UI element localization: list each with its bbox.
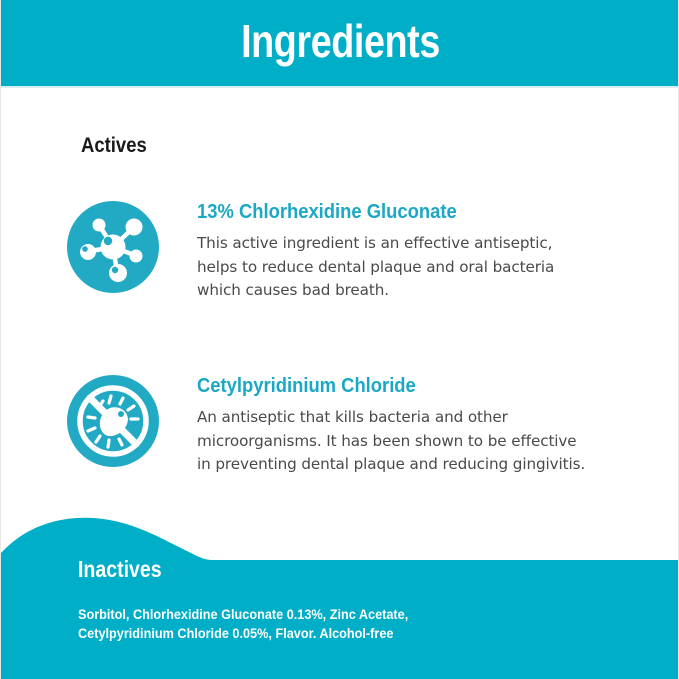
inactives-ingredient-list: Sorbitol, Chlorhexidine Gluconate 0.13%,… (78, 605, 604, 643)
inactives-footer: Inactives Sorbitol, Chlorhexidine Glucon… (1, 505, 679, 679)
page-title: Ingredients (62, 14, 619, 68)
ingredient-text: 13% Chlorhexidine Gluconate This active … (197, 201, 647, 303)
ingredients-infographic: Ingredients Actives (0, 0, 679, 679)
ingredient-title: 13% Chlorhexidine Gluconate (197, 201, 611, 223)
ingredient-description: This active ingredient is an effective a… (197, 232, 647, 303)
ingredient-title: Cetylpyridinium Chloride (197, 375, 611, 397)
section-label-actives: Actives (81, 134, 147, 158)
molecule-icon (67, 201, 159, 293)
section-label-inactives: Inactives (78, 556, 162, 583)
no-bacteria-icon (67, 375, 159, 467)
header-banner: Ingredients (1, 0, 679, 88)
ingredient-text: Cetylpyridinium Chloride An antiseptic t… (197, 375, 647, 477)
ingredient-description: An antiseptic that kills bacteria and ot… (197, 406, 647, 477)
